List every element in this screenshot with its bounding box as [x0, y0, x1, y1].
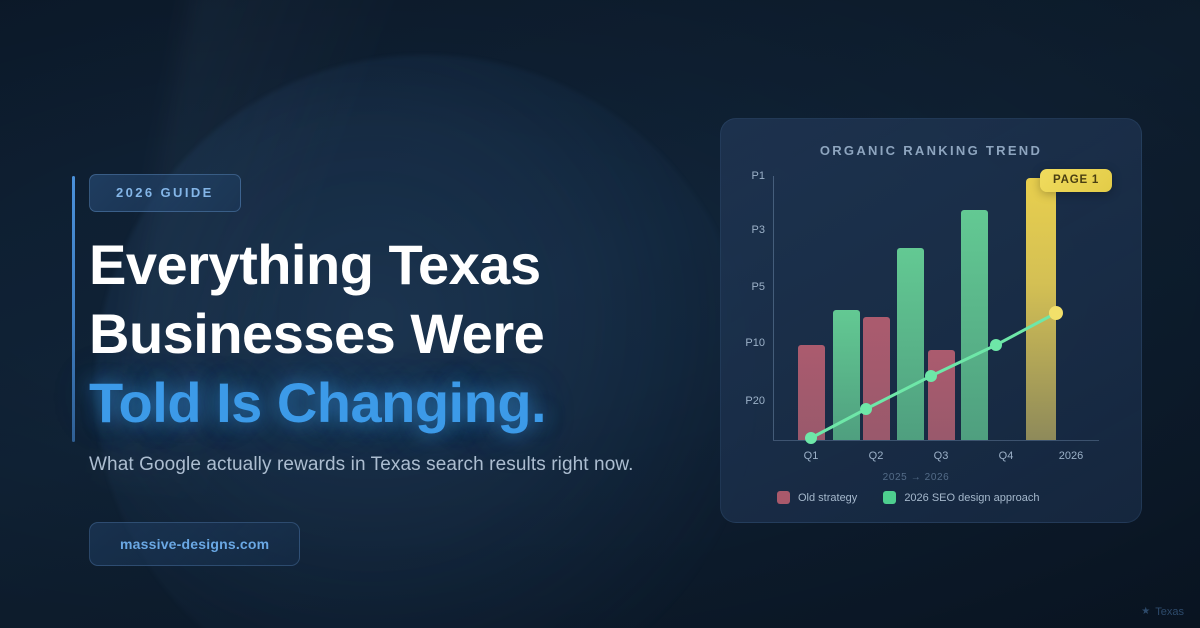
star-icon: ★	[1141, 607, 1150, 617]
bar-old-q3	[928, 350, 955, 440]
hero-subtitle: What Google actually rewards in Texas se…	[89, 454, 692, 476]
headline-line-1: Everything Texas	[89, 231, 692, 300]
watermark: ★ Texas	[1141, 606, 1184, 618]
x-axis-tick: 2026	[1059, 450, 1083, 462]
headline-line-2: Businesses Were	[89, 300, 692, 369]
page-title: Everything Texas Businesses Were Told Is…	[89, 231, 692, 438]
bar-old-q1	[798, 345, 825, 440]
guide-badge: 2026 GUIDE	[89, 174, 241, 212]
trend-point-q4	[990, 339, 1002, 351]
website-link-pill[interactable]: massive-designs.com	[89, 522, 300, 566]
y-axis-line	[773, 176, 774, 440]
legend-swatch-icon	[883, 491, 896, 504]
hero-accent-bar	[72, 176, 75, 442]
hero-content: 2026 GUIDE Everything Texas Businesses W…	[72, 174, 692, 566]
x-axis-tick: Q3	[934, 450, 949, 462]
x-axis-line	[773, 440, 1099, 441]
bar-projection-2026	[1026, 178, 1056, 440]
y-axis-tick: P10	[745, 337, 765, 349]
bar-new-q1	[833, 310, 860, 440]
legend-item-old-strategy: Old strategy	[777, 491, 857, 504]
watermark-label: Texas	[1155, 606, 1184, 618]
y-axis-tick: P1	[752, 170, 765, 182]
page-1-callout-badge: PAGE 1	[1040, 169, 1112, 192]
legend-swatch-icon	[777, 491, 790, 504]
chart-plot-area: P1 P3 P5 P10 P20 Q1 Q2 Q3 Q4 2026 2025	[773, 176, 1103, 501]
x-axis-tick: Q2	[869, 450, 884, 462]
y-axis-tick: P20	[745, 395, 765, 407]
chart-title: ORGANIC RANKING TREND	[721, 143, 1141, 158]
legend-item-2026-approach: 2026 SEO design approach	[883, 491, 1039, 504]
y-axis-tick: P3	[752, 224, 765, 236]
legend-label: 2026 SEO design approach	[904, 492, 1039, 504]
x-axis-tick: Q4	[999, 450, 1014, 462]
x-axis-label: 2025 → 2026	[883, 472, 950, 483]
bar-new-q3	[961, 210, 988, 440]
chart-legend: Old strategy 2026 SEO design approach	[777, 491, 1039, 504]
headline-line-3-accent: Told Is Changing.	[89, 369, 692, 438]
bar-old-q2	[863, 317, 890, 440]
legend-label: Old strategy	[798, 492, 857, 504]
bar-new-q2	[897, 248, 924, 440]
x-axis-tick: Q1	[804, 450, 819, 462]
y-axis-tick: P5	[752, 281, 765, 293]
